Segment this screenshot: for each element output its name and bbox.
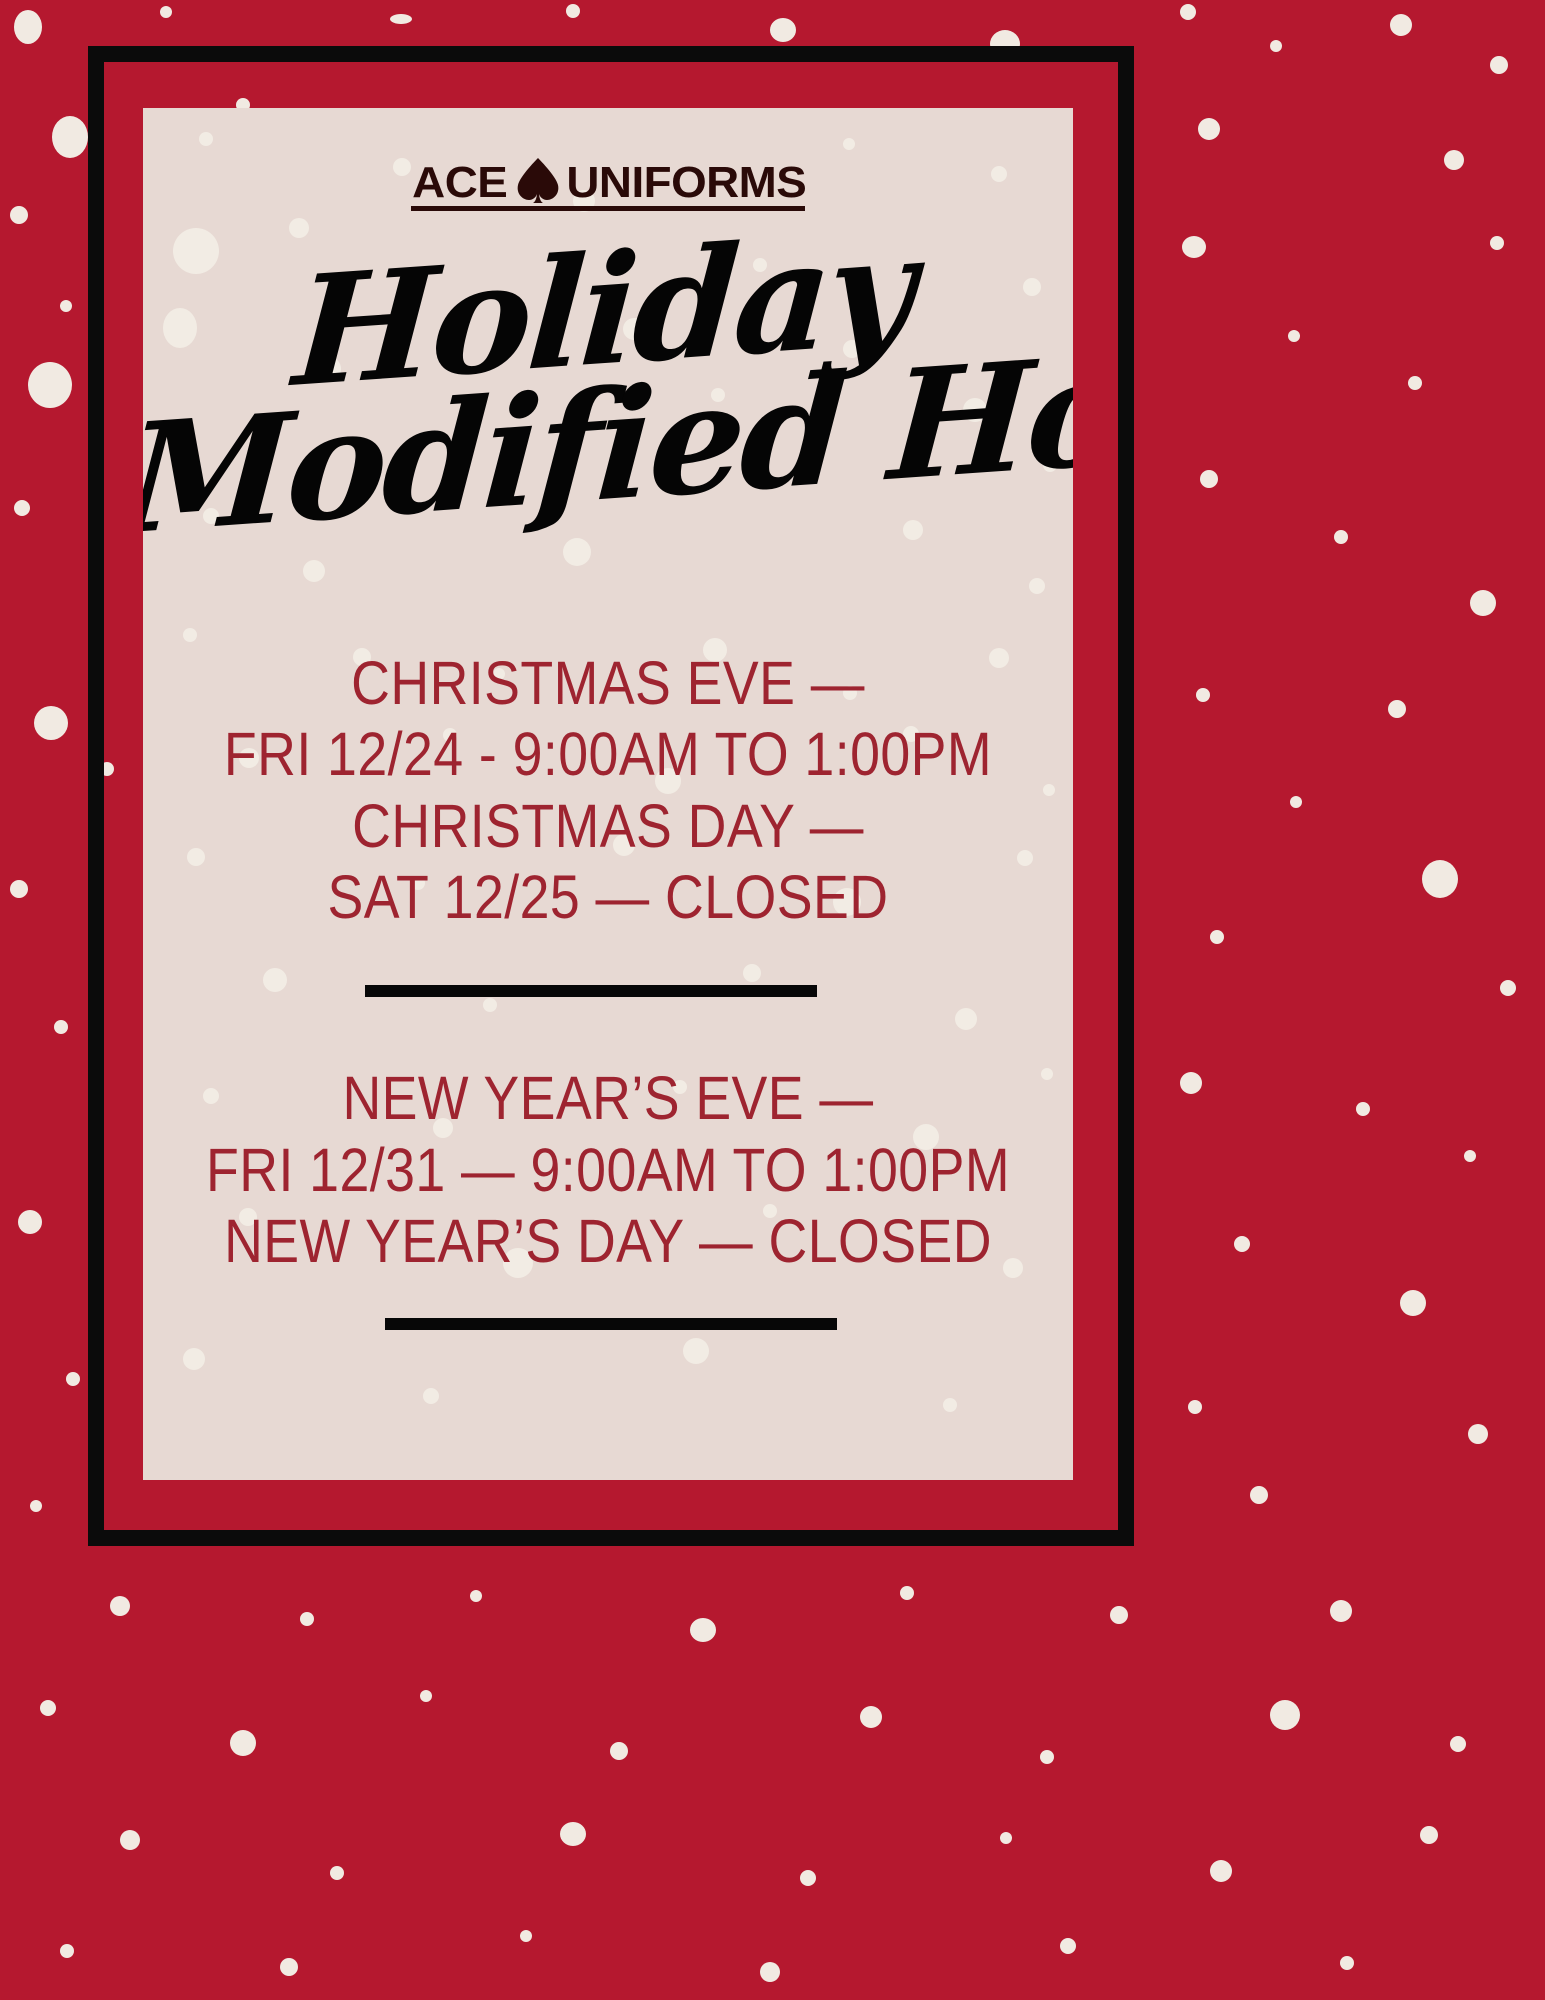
christmas-eve-label: CHRISTMAS EVE — (199, 648, 1017, 719)
spade-icon (515, 156, 561, 204)
christmas-day-hours: SAT 12/25 — CLOSED (199, 862, 1017, 933)
section-divider-bottom (385, 1318, 837, 1330)
new-year-eve-hours: FRI 12/31 — 9:00AM TO 1:00PM (199, 1135, 1017, 1206)
new-year-eve-label: NEW YEAR’S EVE — (199, 1063, 1017, 1134)
section-divider-top (365, 985, 817, 997)
holiday-hours-poster: ACE UNIFORMS Holiday Modified Hours (0, 0, 1545, 2000)
christmas-eve-hours: FRI 12/24 - 9:00AM TO 1:00PM (199, 719, 1017, 790)
logo-word-ace: ACE (412, 162, 507, 204)
logo-word-uniforms: UNIFORMS (567, 162, 807, 204)
christmas-day-label: CHRISTMAS DAY — (199, 791, 1017, 862)
content-panel: ACE UNIFORMS Holiday Modified Hours (143, 108, 1073, 1480)
hours-section: CHRISTMAS EVE — FRI 12/24 - 9:00AM TO 1:… (143, 648, 1073, 1330)
section-gap (143, 997, 1073, 1063)
page-title: Holiday Modified Hours (143, 236, 1073, 522)
christmas-hours-block: CHRISTMAS EVE — FRI 12/24 - 9:00AM TO 1:… (143, 648, 1073, 933)
new-year-day-hours: NEW YEAR’S DAY — CLOSED (199, 1206, 1017, 1277)
ace-uniforms-logo: ACE UNIFORMS (143, 156, 1073, 211)
logo-wordmark: ACE UNIFORMS (414, 156, 802, 204)
new-year-hours-block: NEW YEAR’S EVE — FRI 12/31 — 9:00AM TO 1… (143, 1063, 1073, 1277)
